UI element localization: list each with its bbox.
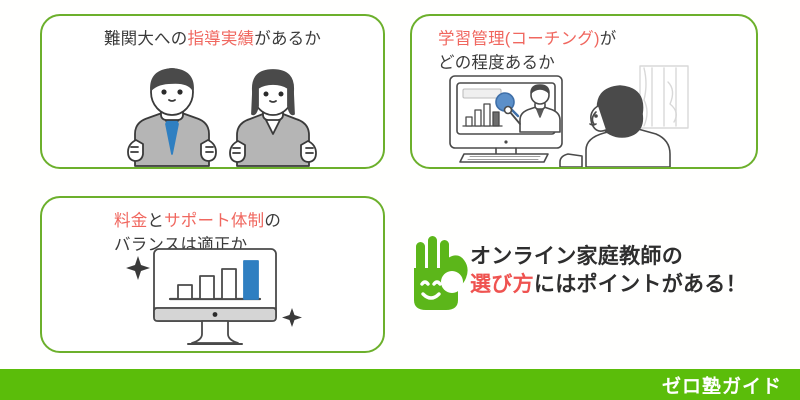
two-business-people-icon [42,62,385,167]
card-price-support-balance: 料金とサポート体制の バランスは適正か [40,196,385,353]
headline-line-2: 選び方にはポイントがある！ [470,271,790,299]
card-1-text-plain-2: があるか [254,30,321,48]
card-1-text-highlight: 指導実績 [187,30,254,48]
card-1-text-plain-1: 難関大への [104,30,188,48]
card-3-text-plain-1: と [147,212,164,230]
headline-line-1: オンライン家庭教師の [470,243,790,271]
infographic-canvas: 難関大への指導実績があるか [0,0,800,400]
card-3-text-plain-2: の [264,212,281,230]
card-teaching-record: 難関大への指導実績があるか [40,14,385,169]
card-3-text-highlight-2: サポート体制 [164,212,264,230]
card-study-management: 学習管理(コーチング)が どの程度あるか [410,14,758,169]
card-3-text-highlight-1: 料金 [114,212,147,230]
headline-line-2-rest: にはポイントがある！ [534,273,747,296]
card-2-text-plain-1: が [600,30,617,48]
desktop-monitor-bar-chart-icon [42,246,385,351]
card-1-heading: 難関大への指導実績があるか [42,28,383,52]
card-2-text-highlight: 学習管理(コーチング) [438,30,600,48]
headline: オンライン家庭教師の 選び方にはポイントがある！ [470,243,790,298]
site-brand-label: ゼロ塾ガイド [662,371,782,398]
student-at-computer-icon [412,62,758,167]
green-hand-ok-mascot-icon [408,234,470,314]
headline-highlight: 選び方 [470,273,534,296]
footer-bar: ゼロ塾ガイド [0,369,800,400]
